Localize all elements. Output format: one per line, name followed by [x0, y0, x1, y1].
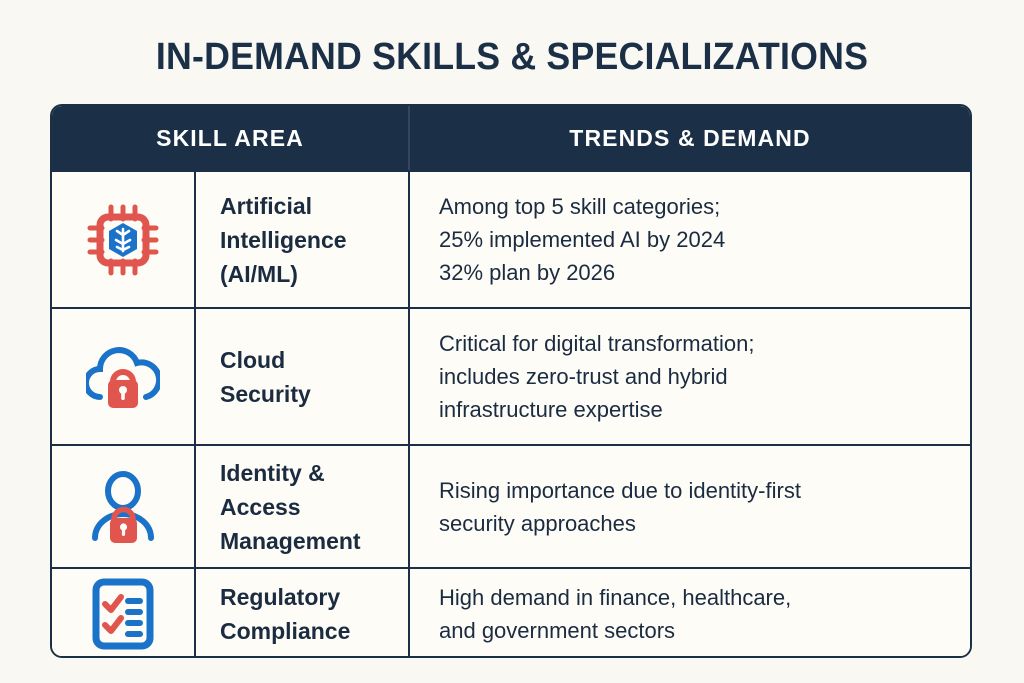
table-header-row: SKILL AREA TRENDS & DEMAND	[52, 106, 970, 170]
trends-text: Among top 5 skill categories; 25% implem…	[439, 190, 725, 289]
trends-text: Critical for digital transformation; inc…	[439, 327, 754, 426]
checklist-clipboard-icon	[90, 578, 156, 650]
row-icon-cell	[52, 446, 196, 567]
row-trends-cell: Critical for digital transformation; inc…	[410, 309, 970, 444]
skill-label: Identity & Access Management	[220, 456, 361, 558]
column-header-trends-demand: TRENDS & DEMAND	[410, 106, 970, 170]
cloud-lock-icon	[86, 342, 160, 412]
skill-label: Artificial Intelligence (AI/ML)	[220, 189, 347, 291]
skills-table: SKILL AREA TRENDS & DEMAND	[50, 104, 972, 658]
row-skill-cell: Identity & Access Management	[196, 446, 410, 567]
row-skill-cell: Cloud Security	[196, 309, 410, 444]
skill-label: Regulatory Compliance	[220, 580, 350, 648]
row-icon-cell	[52, 569, 196, 658]
ai-chip-icon	[87, 204, 159, 276]
trends-text: Rising importance due to identity-first …	[439, 474, 801, 540]
table-row: Artificial Intelligence (AI/ML) Among to…	[52, 170, 970, 307]
page-title: IN-DEMAND SKILLS & SPECIALIZATIONS	[31, 34, 994, 80]
table-row: Cloud Security Critical for digital tran…	[52, 307, 970, 444]
row-icon-cell	[52, 172, 196, 307]
trends-text: High demand in finance, healthcare, and …	[439, 581, 791, 647]
skill-label: Cloud Security	[220, 343, 311, 411]
column-header-skill-area: SKILL AREA	[52, 106, 410, 170]
row-trends-cell: Among top 5 skill categories; 25% implem…	[410, 172, 970, 307]
row-skill-cell: Regulatory Compliance	[196, 569, 410, 658]
row-icon-cell	[52, 309, 196, 444]
table-row: Regulatory Compliance High demand in fin…	[52, 567, 970, 658]
table-row: Identity & Access Management Rising impo…	[52, 444, 970, 567]
row-skill-cell: Artificial Intelligence (AI/ML)	[196, 172, 410, 307]
user-lock-icon	[87, 469, 159, 545]
row-trends-cell: High demand in finance, healthcare, and …	[410, 569, 970, 658]
row-trends-cell: Rising importance due to identity-first …	[410, 446, 970, 567]
infographic-page: IN-DEMAND SKILLS & SPECIALIZATIONS SKILL…	[0, 0, 1024, 683]
